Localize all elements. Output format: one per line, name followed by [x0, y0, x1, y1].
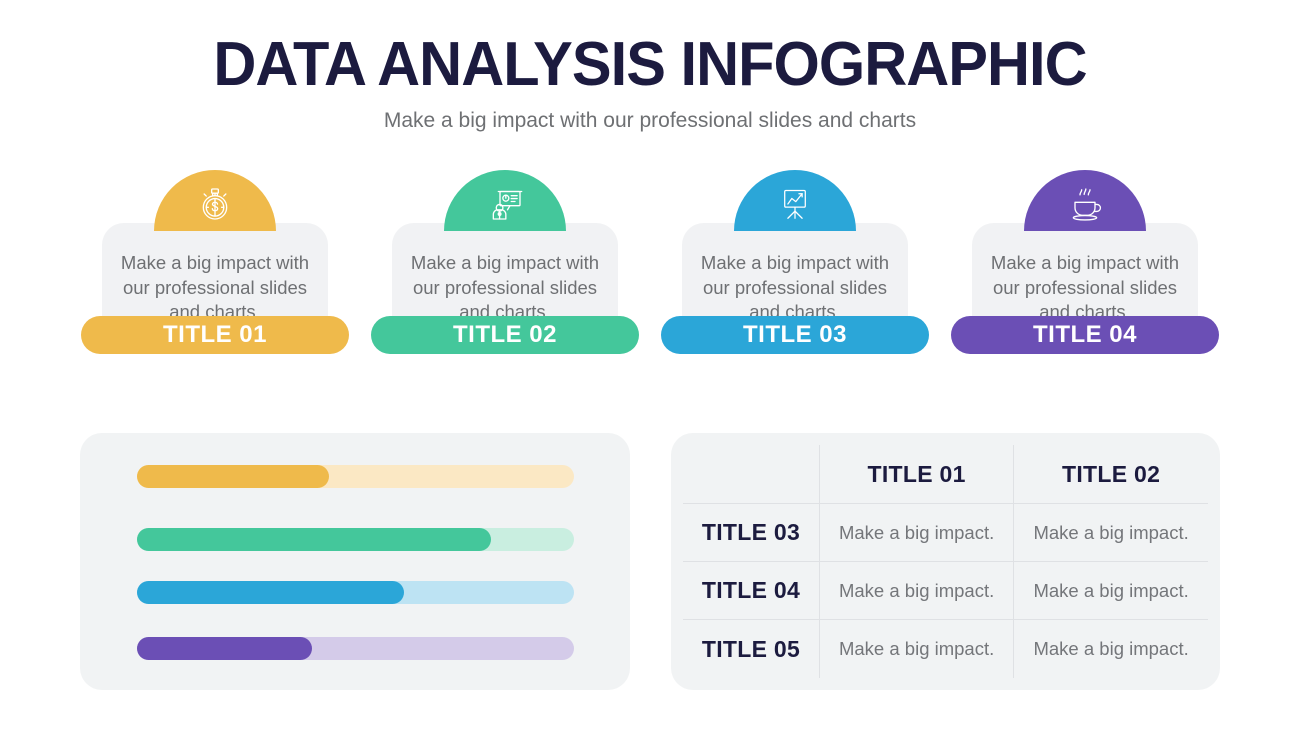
feature-card-3-title: TITLE 03	[743, 321, 847, 349]
progress-bar-fill-2	[137, 528, 491, 551]
comparison-table: TITLE 01 TITLE 02 TITLE 03 Make a big im…	[683, 445, 1208, 678]
table-header: TITLE 01 TITLE 02	[683, 445, 1208, 504]
page-title: DATA ANALYSIS INFOGRAPHIC	[26, 34, 1274, 96]
table-row-2-cell-1: Make a big impact.	[820, 562, 1014, 620]
chart-easel-icon	[769, 181, 821, 227]
table-header-cell-2: TITLE 02	[1014, 445, 1208, 504]
feature-card-2-title-pill[interactable]: TITLE 02	[371, 316, 639, 354]
feature-card-4-title-pill[interactable]: TITLE 04	[951, 316, 1219, 354]
stopwatch-money-icon	[189, 181, 241, 227]
table-header-cell-1: TITLE 01	[820, 445, 1014, 504]
progress-bar-row-3[interactable]	[137, 581, 574, 604]
table-header-row: TITLE 01 TITLE 02	[683, 445, 1208, 504]
progress-bar-chart	[80, 433, 630, 690]
table-row-3-cell-1: Make a big impact.	[820, 620, 1014, 678]
feature-card-4[interactable]: Make a big impact with our professional …	[951, 170, 1219, 385]
feature-card-1-dome	[154, 170, 276, 231]
table-row-3-label: TITLE 05	[683, 620, 820, 678]
page-subtitle: Make a big impact with our professional …	[0, 106, 1300, 136]
feature-card-1[interactable]: Make a big impact with our professional …	[81, 170, 349, 385]
presentation-presenter-icon	[479, 181, 531, 227]
feature-card-4-title: TITLE 04	[1033, 321, 1137, 349]
table-header-cell-blank	[683, 445, 820, 504]
table-row[interactable]: TITLE 04 Make a big impact. Make a big i…	[683, 562, 1208, 620]
progress-bar-fill-3	[137, 581, 404, 604]
feature-card-2[interactable]: Make a big impact with our professional …	[371, 170, 639, 385]
feature-cards-row: Make a big impact with our professional …	[0, 170, 1300, 385]
progress-bar-row-2[interactable]	[137, 528, 574, 551]
table-row-2-label: TITLE 04	[683, 562, 820, 620]
coffee-cup-icon	[1059, 181, 1111, 227]
feature-card-4-dome	[1024, 170, 1146, 231]
feature-card-2-dome	[444, 170, 566, 231]
progress-bar-row-1[interactable]	[137, 465, 574, 488]
feature-card-2-title: TITLE 02	[453, 321, 557, 349]
feature-card-1-text: Make a big impact with our professional …	[102, 251, 328, 325]
table-row-1-label: TITLE 03	[683, 504, 820, 562]
comparison-table-panel: TITLE 01 TITLE 02 TITLE 03 Make a big im…	[671, 433, 1220, 690]
table-row-2-cell-2: Make a big impact.	[1014, 562, 1208, 620]
feature-card-3-title-pill[interactable]: TITLE 03	[661, 316, 929, 354]
feature-card-2-text: Make a big impact with our professional …	[392, 251, 618, 325]
table-body: TITLE 03 Make a big impact. Make a big i…	[683, 504, 1208, 679]
feature-card-3[interactable]: Make a big impact with our professional …	[661, 170, 929, 385]
table-row-3-cell-2: Make a big impact.	[1014, 620, 1208, 678]
feature-card-1-title-pill[interactable]: TITLE 01	[81, 316, 349, 354]
feature-card-4-text: Make a big impact with our professional …	[972, 251, 1198, 325]
feature-card-3-text: Make a big impact with our professional …	[682, 251, 908, 325]
table-row[interactable]: TITLE 03 Make a big impact. Make a big i…	[683, 504, 1208, 562]
progress-bar-row-4[interactable]	[137, 637, 574, 660]
page-header: DATA ANALYSIS INFOGRAPHIC Make a big imp…	[0, 0, 1300, 136]
progress-bar-fill-4	[137, 637, 312, 660]
table-row[interactable]: TITLE 05 Make a big impact. Make a big i…	[683, 620, 1208, 678]
progress-bar-fill-1	[137, 465, 329, 488]
table-row-1-cell-2: Make a big impact.	[1014, 504, 1208, 562]
feature-card-3-dome	[734, 170, 856, 231]
table-row-1-cell-1: Make a big impact.	[820, 504, 1014, 562]
feature-card-1-title: TITLE 01	[163, 321, 267, 349]
